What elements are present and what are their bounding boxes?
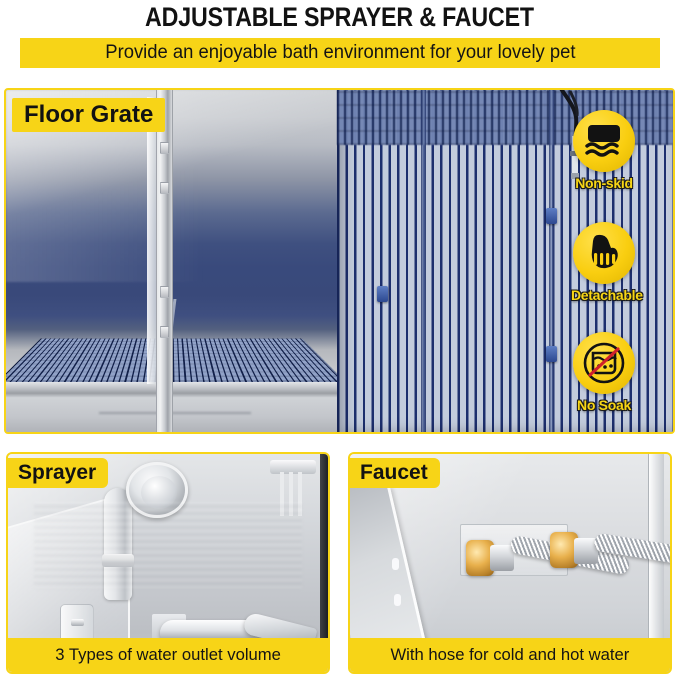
badge-label: Detachable xyxy=(571,287,637,303)
faucet-label: Faucet xyxy=(348,458,440,488)
floor-grate-panel: Non-skid Detachable xyxy=(4,88,675,434)
subtitle-text: Provide an enjoyable bath environment fo… xyxy=(105,42,575,64)
mounting-hole xyxy=(394,594,401,606)
subtitle-banner: Provide an enjoyable bath environment fo… xyxy=(20,38,660,68)
grate-panel-seam xyxy=(549,90,554,432)
sprayer-caption-bar: 3 Types of water outlet volume xyxy=(8,638,328,672)
grate-clip xyxy=(546,346,557,362)
badge-label: Non-skid xyxy=(571,175,637,191)
faucet-caption-bar: With hose for cold and hot water xyxy=(350,638,670,672)
sprayer-caption: 3 Types of water outlet volume xyxy=(55,645,281,665)
detachable-hand-icon xyxy=(584,233,624,273)
door-hinge xyxy=(160,326,169,338)
tub-door-post xyxy=(156,90,173,432)
badge-circle xyxy=(573,222,635,284)
badge-label: No Soak xyxy=(571,397,637,413)
badge-detachable: Detachable xyxy=(571,222,637,303)
sprayer-label: Sprayer xyxy=(6,458,108,488)
floor-grate-label: Floor Grate xyxy=(12,98,165,132)
badge-non-skid: Non-skid xyxy=(571,110,637,191)
tub-photo xyxy=(6,90,337,432)
badge-no-soak: No Soak xyxy=(571,332,637,413)
door-hinge xyxy=(160,286,169,298)
non-skid-icon xyxy=(584,123,624,159)
badge-circle xyxy=(573,332,635,394)
shelf-legs xyxy=(280,472,306,516)
sprayer-handle xyxy=(104,488,132,600)
grate-panel-seam xyxy=(421,90,426,432)
faucet-caption: With hose for cold and hot water xyxy=(391,645,630,665)
door-hinge xyxy=(160,142,169,154)
no-soak-icon xyxy=(581,340,627,386)
tub-floor-grate xyxy=(4,338,350,385)
infographic-page: ADJUSTABLE SPRAYER & FAUCET Provide an e… xyxy=(0,0,679,679)
mounting-hole xyxy=(392,558,399,570)
page-title: ADJUSTABLE SPRAYER & FAUCET xyxy=(48,2,632,33)
steel-coupling-cold xyxy=(490,545,514,571)
door-hinge xyxy=(160,182,169,194)
grate-clip xyxy=(546,208,557,224)
sprayer-collar xyxy=(102,554,134,567)
sprayer-head xyxy=(126,462,188,518)
badge-circle xyxy=(573,110,635,172)
grate-clip xyxy=(377,286,388,302)
tub-dark-edge xyxy=(320,454,328,642)
